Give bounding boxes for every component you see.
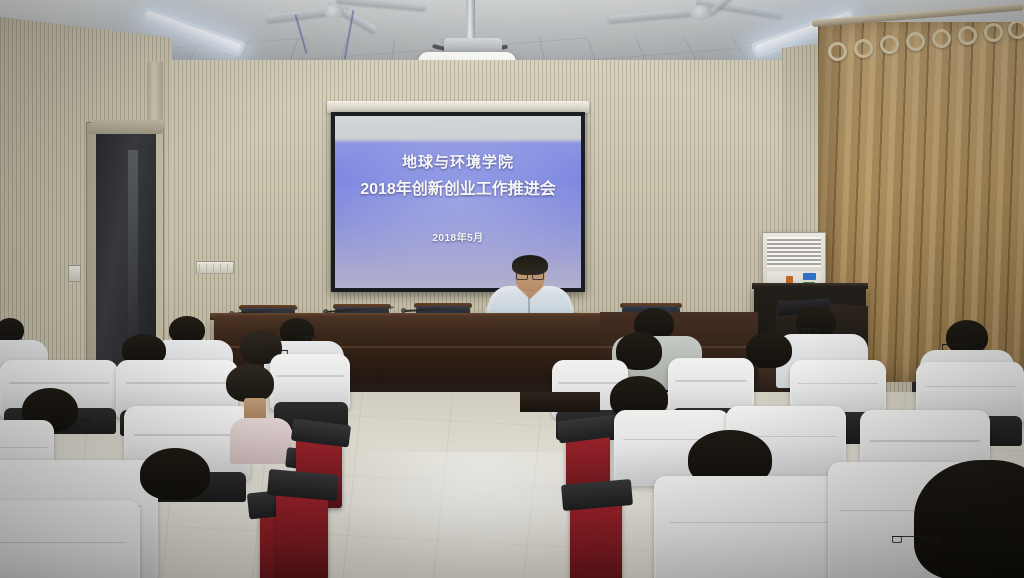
slide-date: 2018年5月	[335, 229, 581, 244]
ac-grille	[767, 237, 821, 267]
curtain-grommet	[854, 39, 873, 58]
slide-title-line2: 2018年创新创业工作推进会	[335, 175, 581, 199]
seat-armrest	[561, 479, 633, 511]
wall-outlet[interactable]	[196, 261, 234, 274]
curtain-grommet	[880, 35, 899, 54]
curtain-grommet	[958, 26, 977, 45]
audience-glasses	[942, 344, 966, 349]
fan-hub	[690, 5, 712, 20]
curtain-grommet	[932, 29, 951, 48]
audience-seat-row4[interactable]	[828, 448, 1024, 578]
audience-head	[140, 448, 210, 500]
fan-hub	[324, 4, 344, 19]
curtain-grommet	[1008, 20, 1024, 39]
fan-blade	[336, 0, 426, 11]
audience-head	[226, 364, 274, 402]
curtain-grommet	[984, 23, 1003, 42]
seat-side-panel	[570, 498, 622, 578]
seat-side-panel	[276, 488, 328, 578]
ceiling-fan-right	[608, 0, 783, 36]
foreground-side-table	[520, 392, 600, 412]
conference-room-photo: EPSON 地球与环境学院 2018年创新创业工作推进会 2018年5月	[0, 0, 1024, 578]
seat-headrest-cover	[654, 476, 850, 578]
fan-blade	[608, 8, 700, 23]
ceiling-fan-left	[266, 0, 426, 36]
door-interior-light	[128, 150, 138, 350]
curtain-grommet	[906, 32, 925, 51]
light-switch[interactable]	[68, 265, 81, 282]
curtain-grommet	[828, 42, 847, 61]
audience-glasses	[892, 536, 940, 541]
seat-headrest-cover	[0, 500, 140, 578]
door-header-trim	[88, 120, 166, 134]
audience-head	[746, 332, 792, 368]
slide-title-line1: 地球与环境学院	[335, 151, 581, 172]
ac-badge-blue	[803, 273, 816, 280]
audience-glasses	[68, 420, 90, 425]
audience-seat-row4[interactable]	[256, 440, 396, 578]
speaker-glasses	[516, 271, 544, 279]
audience-glasses	[794, 328, 818, 333]
audience-seat-foreground[interactable]	[0, 500, 160, 578]
